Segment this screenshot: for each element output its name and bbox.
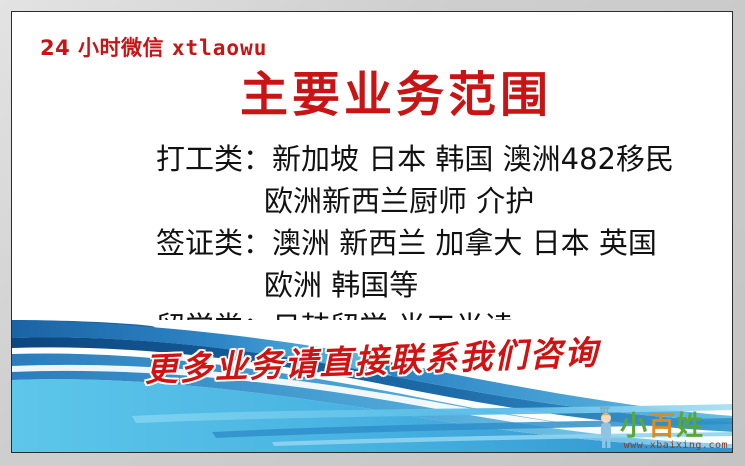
service-line-2: 欧洲新西兰厨师 介护 [12, 180, 733, 222]
poster-canvas: 24 小时微信 xtlaowu 主要业务范围 打工类：新加坡 日本 韩国 澳洲4… [0, 0, 745, 466]
page-title: 主要业务范围 [12, 70, 732, 122]
wechat-contact-line: 24 小时微信 xtlaowu [40, 32, 267, 62]
service-line-3: 签证类：澳洲 新西兰 加拿大 日本 英国 [12, 222, 733, 264]
mascot-icon [592, 406, 618, 450]
wechat-contact-prefix: 24 小时微信 [40, 36, 172, 60]
wechat-id: xtlaowu [172, 36, 268, 60]
poster-card: 24 小时微信 xtlaowu 主要业务范围 打工类：新加坡 日本 韩国 澳洲4… [11, 11, 733, 453]
service-line-4: 欧洲 韩国等 [12, 264, 733, 306]
service-line-1: 打工类：新加坡 日本 韩国 澳洲482移民 [12, 138, 733, 180]
watermark-char-1: 小 [620, 411, 648, 442]
watermark-url: www.xbaixing.com [624, 440, 728, 451]
watermark-char-3: 姓 [676, 411, 704, 442]
watermark-brand: 小百姓 [620, 413, 704, 440]
service-list: 打工类：新加坡 日本 韩国 澳洲482移民 欧洲新西兰厨师 介护 签证类：澳洲 … [12, 138, 733, 348]
watermark-char-2: 百 [648, 411, 676, 442]
watermark: 小百姓 www.xbaixing.com [590, 402, 730, 452]
